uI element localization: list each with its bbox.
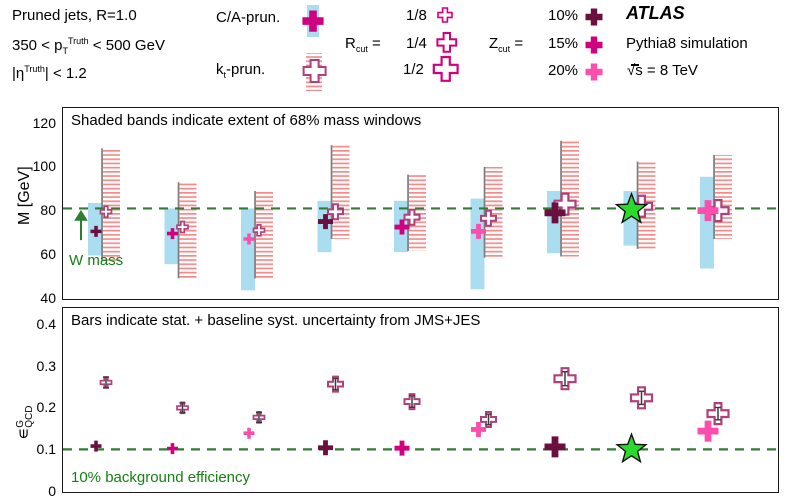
mass-band-kt: [103, 148, 120, 260]
rcut-option-1-2-marker: [430, 54, 462, 86]
info-line-pt: 350 < pTTruth < 500 GeV: [12, 34, 165, 59]
rcut-option-1-2-label: 1/2: [403, 62, 424, 77]
mass-band-ca: [241, 208, 255, 290]
pt-pre: 350 < p: [12, 37, 62, 54]
atlas-simulation-line: Pythia8 simulation: [626, 36, 748, 51]
w-mass-arrow-icon: [76, 212, 86, 240]
atlas-energy-text: s = 8 TeV: [635, 62, 698, 79]
atlas-simulation-text: Pythia8 simulation: [626, 35, 748, 52]
y-axis-tick-label: 120: [12, 115, 56, 131]
zcut-option-15-marker: [583, 34, 605, 56]
background-efficiency-label-text: 10% background efficiency: [71, 469, 250, 486]
legend-ca-label-text: C/A-prun.: [216, 9, 280, 26]
zcut-option-20-marker: [583, 61, 605, 83]
y-axis-tick-label: 0.2: [12, 399, 56, 415]
mass-panel-note: Shaded bands indicate extent of 68% mass…: [71, 112, 421, 129]
zcut-15-text: 15%: [548, 35, 578, 52]
legend-kt-post: -prun.: [226, 61, 265, 78]
y-axis-tick-label: 0: [12, 483, 56, 499]
pt-sup: Truth: [68, 36, 89, 46]
rcut-option-1-8-marker: [435, 5, 455, 25]
rcut-title-eq: =: [368, 35, 381, 52]
efficiency-panel: Bars indicate stat. + baseline syst. unc…: [62, 307, 779, 493]
y-axis-tick-label: 0.1: [12, 441, 56, 457]
zcut-title: Zcut =: [489, 36, 523, 57]
y-axis-tick-label: 40: [12, 290, 56, 306]
mass-band-ca: [471, 199, 485, 290]
y-axis-tick-label: 100: [12, 158, 56, 174]
info-line-jets-text: Pruned jets, R=1.0: [12, 7, 137, 24]
y-axis-tick-label: 0.4: [12, 316, 56, 332]
legend-kt-label: kt-prun.: [216, 62, 265, 83]
zcut-20-text: 20%: [548, 62, 578, 79]
atlas-brand-text: ATLAS: [626, 3, 685, 23]
zcut-title-sub: cut: [498, 44, 510, 54]
zcut-option-10-marker: [583, 6, 605, 28]
legend-header: Pruned jets, R=1.0 350 < pTTruth < 500 G…: [0, 0, 789, 96]
eta-sup: Truth: [24, 64, 45, 74]
rcut-1-4-text: 1/4: [406, 35, 427, 52]
atlas-brand: ATLAS: [626, 6, 685, 21]
w-mass-label-text: W mass: [69, 252, 123, 269]
rcut-title: Rcut =: [345, 36, 381, 57]
zcut-option-15-label: 15%: [548, 36, 578, 51]
zcut-option-10-label: 10%: [548, 8, 578, 23]
rcut-title-sub: cut: [356, 44, 368, 54]
y-axis-tick-label: 0.3: [12, 358, 56, 374]
zcut-option-20-label: 20%: [548, 63, 578, 78]
mass-panel: Shaded bands indicate extent of 68% mass…: [62, 107, 779, 300]
mass-panel-plot-area: [63, 108, 778, 299]
info-line-eta: |ηTruth| < 1.2: [12, 62, 87, 81]
zcut-title-text: Z: [489, 35, 498, 52]
mass-band-ca: [700, 177, 714, 269]
y-axis-tick-label: 60: [12, 246, 56, 262]
mass-band-kt: [715, 155, 732, 239]
sqrt-icon: √: [626, 63, 635, 78]
pt-sub: T: [62, 46, 68, 56]
rcut-1-8-text: 1/8: [406, 7, 427, 24]
legend-kt-label-text: k: [216, 61, 224, 78]
background-efficiency-label: 10% background efficiency: [71, 469, 250, 486]
atlas-energy-line: √s = 8 TeV: [626, 63, 698, 78]
pt-post: < 500 GeV: [89, 37, 165, 54]
mass-panel-note-text: Shaded bands indicate extent of 68% mass…: [71, 112, 421, 129]
info-line-jets: Pruned jets, R=1.0: [12, 8, 137, 23]
rcut-option-1-8-label: 1/8: [406, 8, 427, 23]
y-axis-tick-label: 80: [12, 202, 56, 218]
rcut-1-2-text: 1/2: [403, 61, 424, 78]
efficiency-panel-note: Bars indicate stat. + baseline syst. unc…: [71, 312, 480, 329]
rcut-option-1-4-label: 1/4: [406, 36, 427, 51]
efficiency-panel-note-text: Bars indicate stat. + baseline syst. unc…: [71, 312, 480, 329]
mass-band-kt: [333, 145, 350, 239]
legend-ca-marker: [296, 4, 330, 38]
eff-ylabel-eps: ∊: [14, 428, 33, 440]
legend-kt-marker: [296, 52, 334, 92]
rcut-option-1-4-marker: [434, 30, 460, 56]
efficiency-panel-plot-area: [63, 308, 778, 492]
eta-pre: |η: [12, 65, 24, 82]
legend-ca-label: C/A-prun.: [216, 10, 280, 25]
rcut-title-text: R: [345, 35, 356, 52]
w-mass-label: W mass: [69, 252, 123, 269]
eta-post: | < 1.2: [45, 65, 87, 82]
zcut-10-text: 10%: [548, 7, 578, 24]
zcut-title-eq: =: [510, 35, 523, 52]
